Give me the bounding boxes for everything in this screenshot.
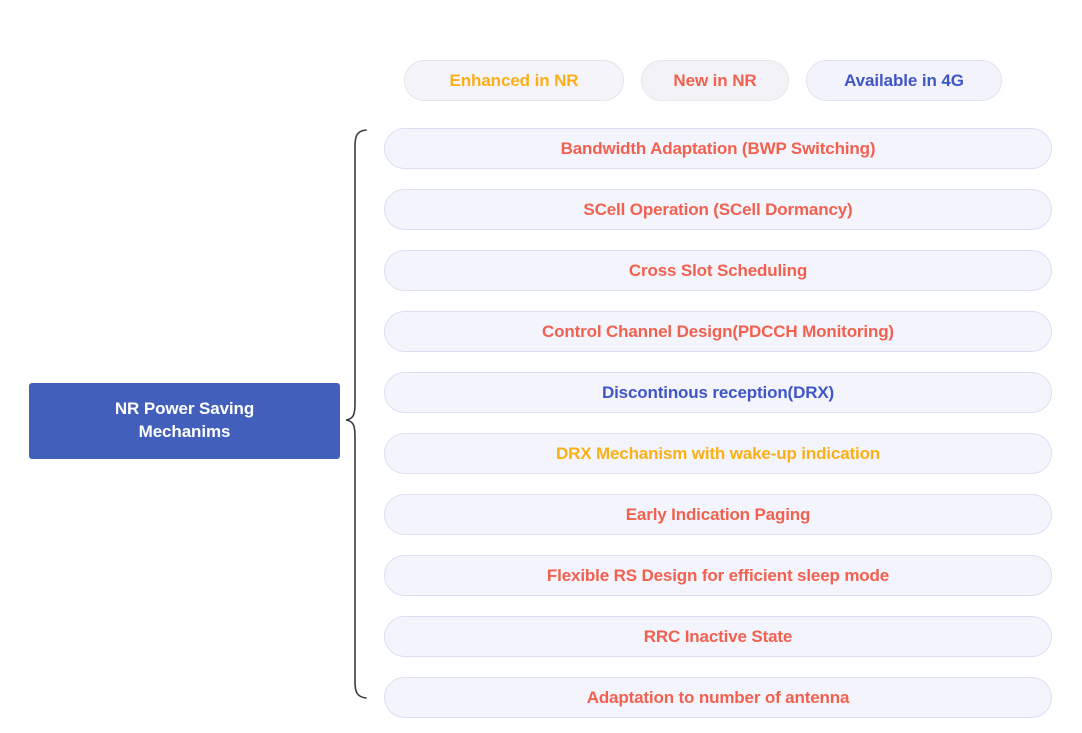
legend-item-enhanced-in-nr[interactable]: Enhanced in NR: [404, 60, 624, 101]
list-item[interactable]: DRX Mechanism with wake-up indication: [384, 433, 1052, 474]
list-item[interactable]: Control Channel Design(PDCCH Monitoring): [384, 311, 1052, 352]
legend-item-label: Enhanced in NR: [450, 71, 579, 91]
root-node[interactable]: NR Power Saving Mechanims: [29, 383, 340, 459]
list-item[interactable]: Bandwidth Adaptation (BWP Switching): [384, 128, 1052, 169]
list-item-label: Cross Slot Scheduling: [629, 261, 807, 281]
mindmap-diagram: Enhanced in NR New in NR Available in 4G…: [0, 0, 1082, 733]
list-item-label: SCell Operation (SCell Dormancy): [583, 200, 852, 220]
list-item[interactable]: SCell Operation (SCell Dormancy): [384, 189, 1052, 230]
items-list: Bandwidth Adaptation (BWP Switching) SCe…: [384, 128, 1052, 718]
list-item-label: Early Indication Paging: [626, 505, 811, 525]
list-item[interactable]: Early Indication Paging: [384, 494, 1052, 535]
list-item-label: DRX Mechanism with wake-up indication: [556, 444, 880, 464]
legend-item-new-in-nr[interactable]: New in NR: [641, 60, 789, 101]
list-item[interactable]: Cross Slot Scheduling: [384, 250, 1052, 291]
list-item-label: Flexible RS Design for efficient sleep m…: [547, 566, 889, 586]
legend-item-available-in-4g[interactable]: Available in 4G: [806, 60, 1002, 101]
legend-item-label: Available in 4G: [844, 71, 964, 91]
list-item-label: Bandwidth Adaptation (BWP Switching): [561, 139, 876, 159]
list-item[interactable]: Flexible RS Design for efficient sleep m…: [384, 555, 1052, 596]
list-item-label: Adaptation to number of antenna: [587, 688, 850, 708]
legend: Enhanced in NR New in NR Available in 4G: [404, 60, 1002, 101]
list-item-label: Control Channel Design(PDCCH Monitoring): [542, 322, 894, 342]
root-node-label: NR Power Saving Mechanims: [115, 398, 254, 444]
legend-item-label: New in NR: [673, 71, 756, 91]
list-item[interactable]: RRC Inactive State: [384, 616, 1052, 657]
list-item-label: RRC Inactive State: [644, 627, 792, 647]
list-item-label: Discontinous reception(DRX): [602, 383, 834, 403]
list-item[interactable]: Adaptation to number of antenna: [384, 677, 1052, 718]
list-item[interactable]: Discontinous reception(DRX): [384, 372, 1052, 413]
brace-connector-icon: [344, 124, 370, 704]
